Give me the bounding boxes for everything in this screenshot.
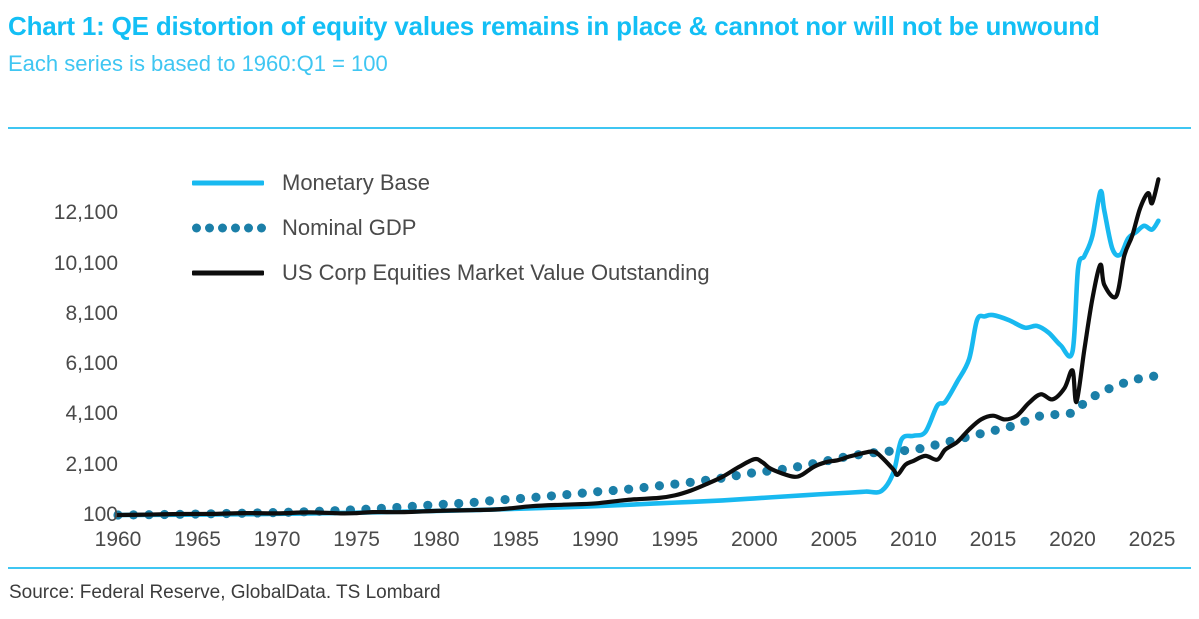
legend-label: Nominal GDP <box>268 215 416 241</box>
x-axis-tick-label: 2025 <box>1107 528 1197 552</box>
data-point-marker <box>547 491 556 500</box>
data-point-marker <box>670 479 679 488</box>
data-point-marker <box>624 485 633 494</box>
data-point-marker <box>793 462 802 471</box>
legend-item-us-corp-equities: US Corp Equities Market Value Outstandin… <box>190 250 710 295</box>
data-point-marker <box>485 496 494 505</box>
data-point-marker <box>639 483 648 492</box>
header-divider <box>8 127 1191 129</box>
x-axis-tick-label: 1995 <box>630 528 720 552</box>
data-point-marker <box>609 486 618 495</box>
legend-dot <box>192 223 201 232</box>
data-point-marker <box>1078 400 1087 409</box>
y-axis-tick-label: 2,100 <box>0 453 118 477</box>
legend-dot <box>257 223 266 232</box>
y-axis-tick-label: 6,100 <box>0 352 118 376</box>
x-axis-tick-label: 1965 <box>153 528 243 552</box>
legend-dot <box>205 223 214 232</box>
y-axis-ticks: 1002,1004,1006,1008,10010,10012,100 <box>0 135 118 565</box>
x-axis-tick-label: 2015 <box>948 528 1038 552</box>
x-axis-tick-label: 1990 <box>550 528 640 552</box>
data-point-marker <box>408 502 417 511</box>
data-point-marker <box>470 498 479 507</box>
data-point-marker <box>1091 391 1100 400</box>
data-point-marker <box>1134 374 1143 383</box>
data-point-marker <box>1104 384 1113 393</box>
legend-label: US Corp Equities Market Value Outstandin… <box>268 260 710 286</box>
chart-page: Chart 1: QE distortion of equity values … <box>0 0 1199 619</box>
data-point-marker <box>1149 372 1158 381</box>
data-point-marker <box>1035 412 1044 421</box>
x-axis-tick-label: 2005 <box>789 528 879 552</box>
x-axis-tick-label: 2000 <box>709 528 799 552</box>
chart-subtitle: Each series is based to 1960:Q1 = 100 <box>8 50 1128 78</box>
x-axis-tick-label: 2010 <box>868 528 958 552</box>
y-axis-tick-label: 10,100 <box>0 252 118 276</box>
legend-key-solid-icon <box>190 172 268 194</box>
data-point-marker <box>500 495 509 504</box>
y-axis-tick-label: 4,100 <box>0 402 118 426</box>
x-axis-tick-label: 2020 <box>1028 528 1118 552</box>
data-point-marker <box>1050 410 1059 419</box>
y-axis-tick-label: 8,100 <box>0 302 118 326</box>
data-point-marker <box>915 444 924 453</box>
data-point-marker <box>578 488 587 497</box>
x-axis-tick-label: 1985 <box>471 528 561 552</box>
x-axis-tick-label: 1970 <box>232 528 322 552</box>
y-axis-tick-label: 12,100 <box>0 201 118 225</box>
footer-divider <box>8 567 1191 569</box>
legend-dot <box>244 223 253 232</box>
data-point-marker <box>593 487 602 496</box>
data-point-marker <box>747 468 756 477</box>
data-point-marker <box>562 490 571 499</box>
data-point-marker <box>531 493 540 502</box>
x-axis-tick-label: 1960 <box>73 528 163 552</box>
legend-item-monetary-base: Monetary Base <box>190 160 710 205</box>
page-title: Chart 1: QE distortion of equity values … <box>8 10 1128 44</box>
data-point-marker <box>439 500 448 509</box>
legend-dot <box>218 223 227 232</box>
y-axis-tick-label: 100 <box>0 503 118 527</box>
data-point-marker <box>885 447 894 456</box>
chart-legend: Monetary Base Nominal GDP US Corp Equiti… <box>190 160 710 295</box>
data-point-marker <box>454 499 463 508</box>
data-point-marker <box>991 426 1000 435</box>
legend-key-dotted-icon <box>190 217 268 239</box>
source-note: Source: Federal Reserve, GlobalData. TS … <box>9 582 441 604</box>
legend-label: Monetary Base <box>268 170 430 196</box>
data-point-marker <box>423 501 432 510</box>
x-axis-ticks: 1960196519701975198019851990199520002005… <box>0 528 1199 588</box>
x-axis-tick-label: 1975 <box>312 528 402 552</box>
data-point-marker <box>976 429 985 438</box>
data-point-marker <box>900 446 909 455</box>
data-point-marker <box>655 481 664 490</box>
data-point-marker <box>1066 409 1075 418</box>
data-point-marker <box>1020 417 1029 426</box>
chart-header: Chart 1: QE distortion of equity values … <box>8 10 1128 77</box>
legend-dot <box>231 223 240 232</box>
legend-key-solid-icon <box>190 262 268 284</box>
data-point-marker <box>686 478 695 487</box>
legend-item-nominal-gdp: Nominal GDP <box>190 205 710 250</box>
data-point-marker <box>930 440 939 449</box>
data-point-marker <box>1006 422 1015 431</box>
data-point-marker <box>516 494 525 503</box>
x-axis-tick-label: 1980 <box>391 528 481 552</box>
x-axis: 1960196519701975198019851990199520002005… <box>0 528 1199 568</box>
data-point-marker <box>1119 379 1128 388</box>
